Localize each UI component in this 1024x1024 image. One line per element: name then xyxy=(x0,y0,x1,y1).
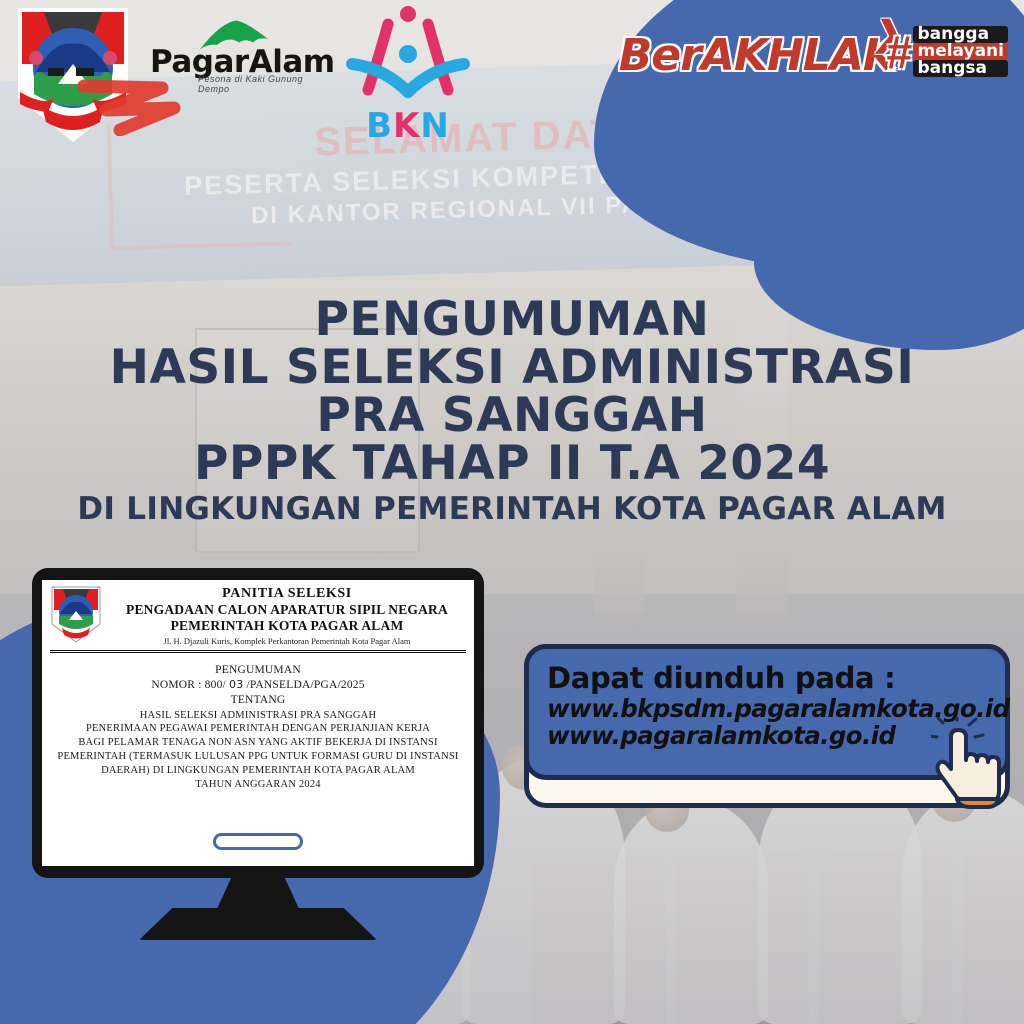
letterhead-address: Jl. H. Djazuli Kuris, Komplek Perkantora… xyxy=(108,636,466,646)
bkn-wordmark: BKN xyxy=(344,106,472,146)
monitor-screen: PANITIA SELEKSI PENGADAAN CALON APARATUR… xyxy=(32,568,484,878)
document-body-line-2: PENERIMAAN PEGAWAI PEMERINTAH DENGAN PER… xyxy=(50,722,466,736)
berakhlak-wordmark: BerAKHLAK xyxy=(619,30,896,81)
letterhead-line-1: PANITIA SELEKSI xyxy=(108,586,466,602)
document-body: PENGUMUMAN NOMOR : 800/ 03 /PANSELDA/PGA… xyxy=(50,653,466,792)
headline-line-3: PRA SANGGAH xyxy=(0,392,1024,440)
download-url-pagaralamkota[interactable]: www.pagaralamkota.go.id xyxy=(547,722,987,749)
poster-stage: ›››› SELAMAT DATANG PESERTA SELEKSI KOMP… xyxy=(0,0,1024,1024)
letterhead-line-2: PENGADAAN CALON APARATUR SIPIL NEGARA xyxy=(108,602,466,618)
monitor-logo-notch xyxy=(213,833,303,850)
document-body-line-3: BAGI PELAMAR TENAGA NON ASN YANG AKTIF B… xyxy=(50,736,466,750)
document-body-line-6: TAHUN ANGGARAN 2024 xyxy=(50,778,466,792)
main-headline: PENGUMUMAN HASIL SELEKSI ADMINISTRASI PR… xyxy=(0,296,1024,525)
document-page: PANITIA SELEKSI PENGADAAN CALON APARATUR… xyxy=(42,580,474,866)
document-letterhead: PANITIA SELEKSI PENGADAAN CALON APARATUR… xyxy=(50,586,466,653)
bkn-symbol-icon xyxy=(344,6,472,110)
header-logos: PagarAlam Pesona di Kaki Gunung Dempo BK… xyxy=(0,0,1024,150)
red-squiggle-icon xyxy=(70,78,190,136)
monitor-illustration: PANITIA SELEKSI PENGADAAN CALON APARATUR… xyxy=(32,568,484,988)
nomor-prefix: NOMOR : 800/ xyxy=(151,679,226,691)
document-crest-icon xyxy=(50,586,102,644)
bkn-letter-b: B xyxy=(366,106,393,146)
download-callout[interactable]: Dapat diunduh pada : www.bkpsdm.pagarala… xyxy=(524,644,1010,780)
document-body-line-1: HASIL SELEKSI ADMINISTRASI PRA SANGGAH xyxy=(50,709,466,723)
pointing-hand-cursor-icon xyxy=(931,717,1009,809)
nomor-handwritten-value: 03 xyxy=(229,678,243,691)
bkn-letter-k: K xyxy=(393,106,420,146)
document-tentang: TENTANG xyxy=(50,693,466,708)
nomor-suffix: /PANSELDA/PGA/2025 xyxy=(246,679,364,691)
callout-title: Dapat diunduh pada : xyxy=(547,661,987,695)
bangga-melayani-bangsa-logo: # bangga melayani bangsa xyxy=(886,26,1008,77)
pagaralam-tagline: Pesona di Kaki Gunung Dempo xyxy=(198,74,330,94)
tagline-line-3: bangsa xyxy=(913,60,1008,77)
bkn-letter-n: N xyxy=(420,106,449,146)
document-title: PENGUMUMAN xyxy=(50,663,466,678)
monitor-neck xyxy=(216,878,300,911)
headline-subtitle: DI LINGKUNGAN PEMERINTAH KOTA PAGAR ALAM xyxy=(0,494,1024,526)
headline-line-4: PPPK TAHAP II T.A 2024 xyxy=(0,440,1024,488)
hashtag-icon: # xyxy=(886,29,912,75)
bkn-logo: BKN xyxy=(344,6,472,146)
document-nomor: NOMOR : 800/ 03 /PANSELDA/PGA/2025 xyxy=(50,678,466,693)
monitor-base xyxy=(139,908,377,940)
document-body-line-5: DAERAH) DI LINGKUNGAN PEMERINTAH KOTA PA… xyxy=(50,764,466,778)
document-body-line-4: PEMERINTAH (TERMASUK LULUSAN PPG UNTUK F… xyxy=(50,750,466,764)
headline-line-1: PENGUMUMAN xyxy=(0,296,1024,344)
headline-line-2: HASIL SELEKSI ADMINISTRASI xyxy=(0,344,1024,392)
letterhead-line-3: PEMERINTAH KOTA PAGAR ALAM xyxy=(108,618,466,634)
download-url-bkpsdm[interactable]: www.bkpsdm.pagaralamkota.go.id xyxy=(547,695,987,722)
berakhlak-logo: BerAKHLAK ❯ xyxy=(619,30,896,81)
